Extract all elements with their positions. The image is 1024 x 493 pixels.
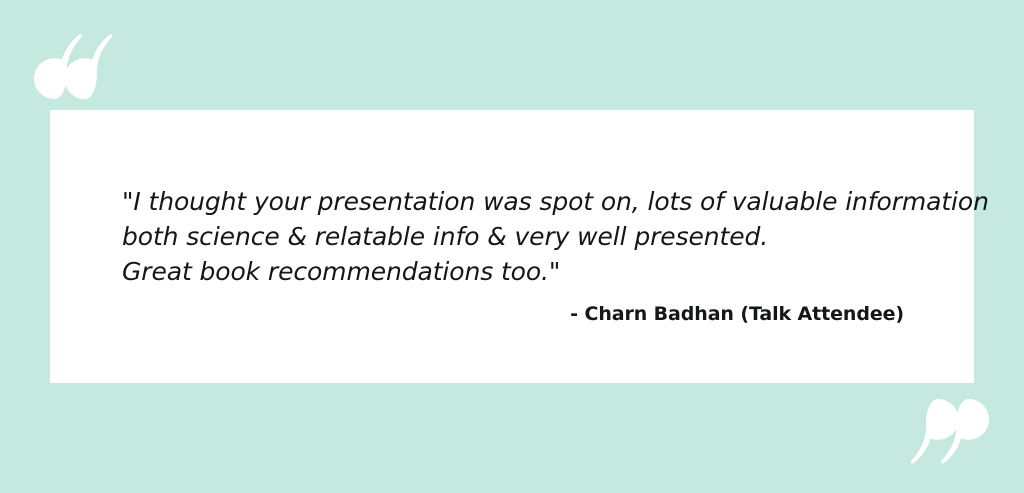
quote-line: both science & relatable info & very wel… — [122, 219, 904, 254]
quote-body: "I thought your presentation was spot on… — [122, 184, 904, 326]
quote-line: "I thought your presentation was spot on… — [122, 184, 904, 219]
testimonial-card-canvas: "I thought your presentation was spot on… — [0, 0, 1024, 493]
quote-attribution: - Charn Badhan (Talk Attendee) — [122, 302, 904, 326]
quote-line: Great book recommendations too." — [122, 254, 904, 289]
quote-open-icon — [34, 33, 112, 99]
quote-close-icon — [911, 399, 989, 465]
quote-card-surface: "I thought your presentation was spot on… — [50, 110, 974, 383]
